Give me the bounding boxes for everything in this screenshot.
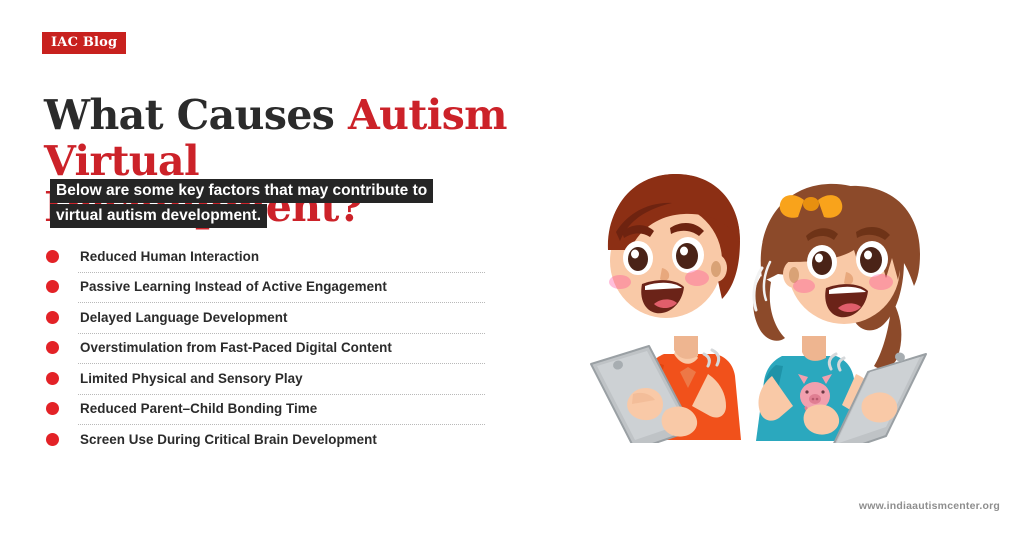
subtitle-line-2: virtual autism development. [50, 204, 267, 228]
bullet-icon [46, 372, 59, 385]
bullet-icon [46, 433, 59, 446]
iac-blog-badge: IAC Blog [42, 32, 126, 54]
infographic-page: IAC Blog What Causes Autism VirtualDevel… [0, 0, 1024, 536]
factor-label: Overstimulation from Fast-Paced Digital … [80, 340, 392, 355]
bullet-icon [46, 341, 59, 354]
list-item: Passive Learning Instead of Active Engag… [44, 272, 484, 303]
subtitle: Below are some key factors that may cont… [50, 178, 520, 228]
list-item: Overstimulation from Fast-Paced Digital … [44, 333, 484, 364]
factor-label: Reduced Human Interaction [80, 249, 259, 264]
title-line1-plain: What Causes [44, 91, 348, 139]
list-item: Reduced Human Interaction [44, 241, 484, 272]
children-with-tablets-illustration [556, 158, 966, 443]
footer-website-url: www.indiaautismcenter.org [859, 500, 1000, 512]
factor-list: Reduced Human Interaction Passive Learni… [44, 241, 484, 455]
factor-label: Delayed Language Development [80, 310, 288, 325]
list-item: Reduced Parent–Child Bonding Time [44, 394, 484, 425]
list-item: Delayed Language Development [44, 302, 484, 333]
bullet-icon [46, 402, 59, 415]
list-item: Screen Use During Critical Brain Develop… [44, 424, 484, 455]
bullet-icon [46, 280, 59, 293]
bullet-icon [46, 311, 59, 324]
boy-figure [591, 174, 741, 443]
girl-figure [753, 184, 926, 443]
factor-label: Passive Learning Instead of Active Engag… [80, 279, 387, 294]
factor-label: Limited Physical and Sensory Play [80, 371, 303, 386]
factor-label: Reduced Parent–Child Bonding Time [80, 401, 317, 416]
list-item: Limited Physical and Sensory Play [44, 363, 484, 394]
subtitle-line-1: Below are some key factors that may cont… [50, 179, 433, 203]
bullet-icon [46, 250, 59, 263]
factor-label: Screen Use During Critical Brain Develop… [80, 432, 377, 447]
